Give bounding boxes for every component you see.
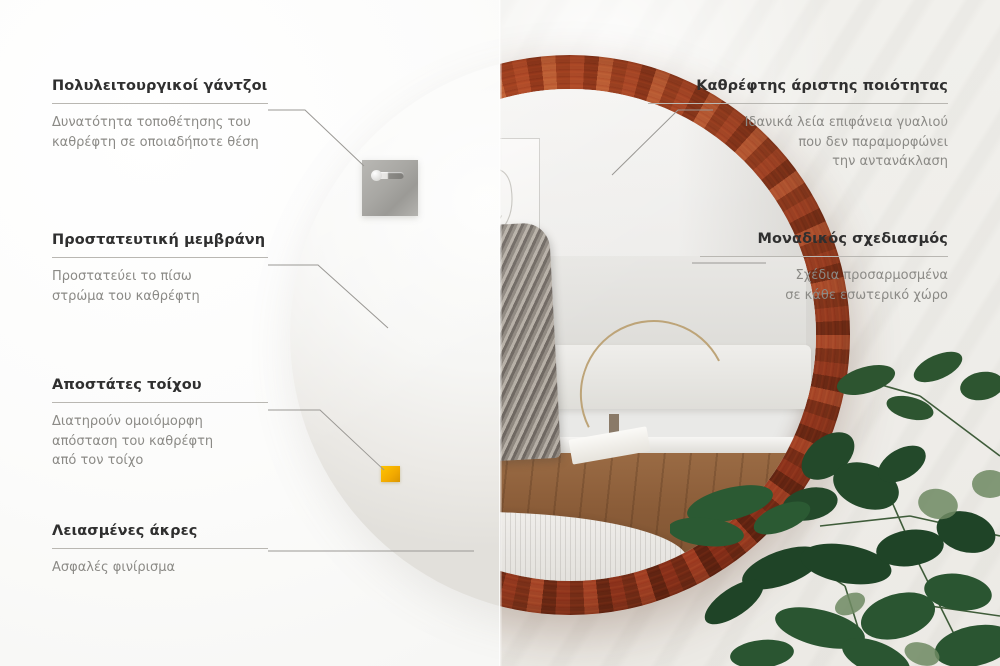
- callout-spacers-rule: [52, 402, 268, 403]
- callout-edges-rule: [52, 548, 268, 549]
- panel-divider: [499, 0, 502, 666]
- callout-hooks-title: Πολυλειτουργικοί γάντζοι: [52, 78, 268, 94]
- callout-membrane-rule: [52, 257, 268, 258]
- callout-quality-title: Καθρέφτης άριστης ποιότητας: [648, 78, 948, 94]
- callout-spacers: Αποστάτες τοίχου Διατηρούν ομοιόμορφη απ…: [52, 377, 268, 471]
- callout-hooks-rule: [52, 103, 268, 104]
- callout-membrane-description: Προστατεύει το πίσω στρώμα του καθρέφτη: [52, 267, 268, 306]
- callout-hooks: Πολυλειτουργικοί γάντζοι Δυνατότητα τοπο…: [52, 78, 268, 152]
- callout-spacers-description: Διατηρούν ομοιόμορφη απόσταση του καθρέφ…: [52, 412, 268, 471]
- callout-membrane-title: Προστατευτική μεμβράνη: [52, 232, 268, 248]
- foliage-plant-decoration: [670, 336, 1000, 666]
- product-mirror-back: [290, 55, 501, 615]
- callout-edges-description: Ασφαλές φινίρισμα: [52, 558, 268, 578]
- callout-spacers-title: Αποστάτες τοίχου: [52, 377, 268, 393]
- callout-edges-title: Λειασμένες άκρες: [52, 523, 268, 539]
- callout-quality: Καθρέφτης άριστης ποιότητας Ιδανικά λεία…: [648, 78, 948, 172]
- callout-hooks-description: Δυνατότητα τοποθέτησης του καθρέφτη σε ο…: [52, 113, 268, 152]
- callout-quality-rule: [648, 103, 948, 104]
- callout-design-title: Μοναδικός σχεδιασμός: [700, 231, 948, 247]
- callout-quality-description: Ιδανικά λεία επιφάνεια γυαλιού που δεν π…: [648, 113, 948, 172]
- infographic-canvas: Πολυλειτουργικοί γάντζοι Δυνατότητα τοπο…: [0, 0, 1000, 666]
- callout-membrane: Προστατευτική μεμβράνη Προστατεύει το πί…: [52, 232, 268, 306]
- callout-edges: Λειασμένες άκρες Ασφαλές φινίρισμα: [52, 523, 268, 578]
- callout-design-rule: [700, 256, 948, 257]
- product-sheen: [290, 55, 501, 615]
- callout-design-description: Σχέδια προσαρμοσμένα σε κάθε εσωτερικό χ…: [700, 266, 948, 305]
- hook-plate: [362, 160, 418, 216]
- hook-keyhole-round: [371, 170, 382, 181]
- wall-spacer-chip: [381, 466, 400, 482]
- callout-design: Μοναδικός σχεδιασμός Σχέδια προσαρμοσμέν…: [700, 231, 948, 305]
